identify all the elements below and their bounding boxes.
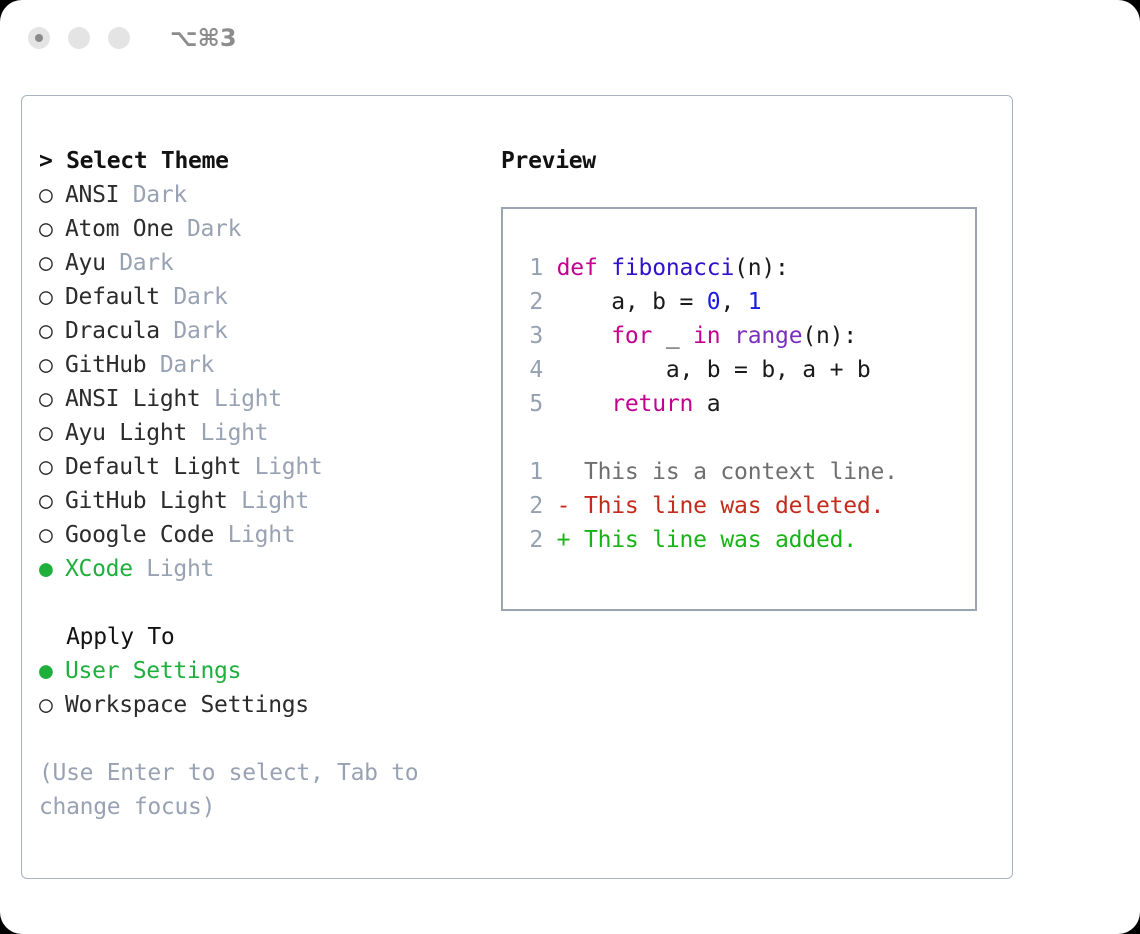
diff-line-number: 2	[517, 489, 543, 523]
radio-unselected-icon: ○	[39, 450, 65, 484]
code-token	[543, 323, 611, 349]
theme-option-row[interactable]: ○Ayu Light Light	[39, 416, 479, 450]
theme-option-label: Default Light	[65, 454, 241, 480]
diff-line-text: - This line was deleted.	[543, 493, 884, 519]
preview-box: 1 def fibonacci(n):2 a, b = 0, 13 for _ …	[501, 207, 977, 611]
theme-option-variant: Light	[241, 454, 322, 480]
diff-line-number: 1	[517, 455, 543, 489]
theme-option-label: Atom One	[65, 216, 173, 242]
code-line-number: 2	[517, 285, 543, 319]
theme-option-row[interactable]: ○GitHub Light Light	[39, 484, 479, 518]
theme-option-variant: Light	[214, 522, 295, 548]
theme-option-row[interactable]: ○ANSI Dark	[39, 178, 479, 212]
code-token: a	[693, 391, 720, 417]
theme-option-row[interactable]: ○GitHub Dark	[39, 348, 479, 382]
apply-to-option-label: User Settings	[65, 658, 241, 684]
code-line: 5 return a	[517, 387, 969, 421]
code-line: 4 a, b = b, a + b	[517, 353, 969, 387]
theme-option-label: XCode	[65, 556, 133, 582]
theme-option-row[interactable]: ●XCode Light	[39, 552, 479, 586]
radio-unselected-icon: ○	[39, 212, 65, 246]
theme-option-row[interactable]: ○Default Dark	[39, 280, 479, 314]
code-token	[720, 323, 734, 349]
code-token: for	[611, 323, 652, 349]
diff-line-text: This is a context line.	[543, 459, 898, 485]
code-line: 1 def fibonacci(n):	[517, 251, 969, 285]
preview-code-area: 1 def fibonacci(n):2 a, b = 0, 13 for _ …	[517, 251, 969, 557]
code-token: fibonacci	[611, 255, 734, 281]
theme-option-row[interactable]: ○Google Code Light	[39, 518, 479, 552]
theme-option-label: GitHub	[65, 352, 146, 378]
code-token: a, b =	[543, 289, 707, 315]
radio-unselected-icon: ○	[39, 416, 65, 450]
radio-unselected-icon: ○	[39, 280, 65, 314]
theme-option-variant: Dark	[146, 352, 214, 378]
code-line-number: 3	[517, 319, 543, 353]
window-dot-1-icon[interactable]	[28, 27, 50, 49]
theme-option-label: Google Code	[65, 522, 214, 548]
theme-option-variant: Light	[228, 488, 309, 514]
code-line-number: 5	[517, 387, 543, 421]
code-line-number: 4	[517, 353, 543, 387]
theme-option-label: ANSI	[65, 182, 119, 208]
code-line-number: 1	[517, 251, 543, 285]
radio-unselected-icon: ○	[39, 178, 65, 212]
apply-to-option-row[interactable]: ●User Settings	[39, 654, 479, 688]
theme-option-label: ANSI Light	[65, 386, 200, 412]
radio-unselected-icon: ○	[39, 688, 65, 722]
preview-title: Preview	[501, 144, 991, 178]
apply-to-title: Apply To	[39, 620, 479, 654]
code-token	[543, 255, 557, 281]
radio-unselected-icon: ○	[39, 518, 65, 552]
code-token: a, b = b, a + b	[543, 357, 871, 383]
theme-option-label: GitHub Light	[65, 488, 228, 514]
radio-unselected-icon: ○	[39, 246, 65, 280]
apply-to-option-list: ●User Settings○Workspace Settings	[39, 654, 479, 722]
radio-unselected-icon: ○	[39, 348, 65, 382]
code-token: (n):	[802, 323, 857, 349]
theme-option-label: Ayu	[65, 250, 106, 276]
apply-to-option-row[interactable]: ○Workspace Settings	[39, 688, 479, 722]
diff-line-number: 2	[517, 523, 543, 557]
theme-option-row[interactable]: ○Default Light Light	[39, 450, 479, 484]
theme-option-variant: Dark	[160, 284, 228, 310]
code-token: (n):	[734, 255, 789, 281]
code-token: 0	[707, 289, 721, 315]
code-line: 3 for _ in range(n):	[517, 319, 969, 353]
code-spacer	[517, 421, 969, 455]
code-token: def	[557, 255, 598, 281]
radio-unselected-icon: ○	[39, 382, 65, 416]
code-sample: 1 def fibonacci(n):2 a, b = 0, 13 for _ …	[517, 251, 969, 421]
radio-selected-icon: ●	[39, 552, 65, 586]
window-dot-3-icon[interactable]	[108, 27, 130, 49]
code-token: return	[611, 391, 693, 417]
theme-option-variant: Light	[133, 556, 214, 582]
diff-sample: 1 This is a context line.2 - This line w…	[517, 455, 969, 557]
theme-option-variant: Light	[187, 420, 268, 446]
theme-option-row[interactable]: ○Ayu Dark	[39, 246, 479, 280]
theme-option-variant: Dark	[173, 216, 241, 242]
theme-option-row[interactable]: ○Atom One Dark	[39, 212, 479, 246]
theme-selector-panel: > Select Theme ○ANSI Dark○Atom One Dark○…	[21, 95, 1013, 879]
radio-selected-icon: ●	[39, 654, 65, 688]
theme-option-variant: Dark	[160, 318, 228, 344]
theme-option-label: Dracula	[65, 318, 160, 344]
code-token: 1	[748, 289, 762, 315]
code-token	[598, 255, 612, 281]
diff-line-text: + This line was added.	[543, 527, 857, 553]
code-token: _	[652, 323, 693, 349]
radio-unselected-icon: ○	[39, 484, 65, 518]
code-token	[543, 391, 611, 417]
keyboard-shortcut-label: ⌥⌘3	[170, 22, 237, 54]
theme-option-row[interactable]: ○ANSI Light Light	[39, 382, 479, 416]
theme-option-label: Ayu Light	[65, 420, 187, 446]
apply-to-option-label: Workspace Settings	[65, 692, 309, 718]
preview-column: Preview 1 def fibonacci(n):2 a, b = 0, 1…	[501, 144, 991, 611]
window-dot-2-icon[interactable]	[68, 27, 90, 49]
theme-option-label: Default	[65, 284, 160, 310]
terminal-window: ⌥⌘3 > Select Theme ○ANSI Dark○Atom One D…	[0, 0, 1140, 934]
diff-line: 2 - This line was deleted.	[517, 489, 969, 523]
apply-to-section: Apply To ●User Settings○Workspace Settin…	[39, 620, 479, 722]
diff-line: 2 + This line was added.	[517, 523, 969, 557]
theme-list-column: > Select Theme ○ANSI Dark○Atom One Dark○…	[39, 144, 479, 586]
theme-option-variant: Dark	[106, 250, 174, 276]
select-theme-header: > Select Theme	[39, 144, 479, 178]
window-titlebar: ⌥⌘3	[0, 0, 1140, 76]
code-token: ,	[720, 289, 747, 315]
theme-option-variant: Light	[200, 386, 281, 412]
theme-option-variant: Dark	[119, 182, 187, 208]
keyboard-hint-text: (Use Enter to select, Tab to change focu…	[39, 756, 449, 824]
diff-line: 1 This is a context line.	[517, 455, 969, 489]
theme-option-row[interactable]: ○Dracula Dark	[39, 314, 479, 348]
code-line: 2 a, b = 0, 1	[517, 285, 969, 319]
theme-option-list: ○ANSI Dark○Atom One Dark○Ayu Dark○Defaul…	[39, 178, 479, 586]
code-token: in	[693, 323, 720, 349]
radio-unselected-icon: ○	[39, 314, 65, 348]
code-token: range	[734, 323, 802, 349]
